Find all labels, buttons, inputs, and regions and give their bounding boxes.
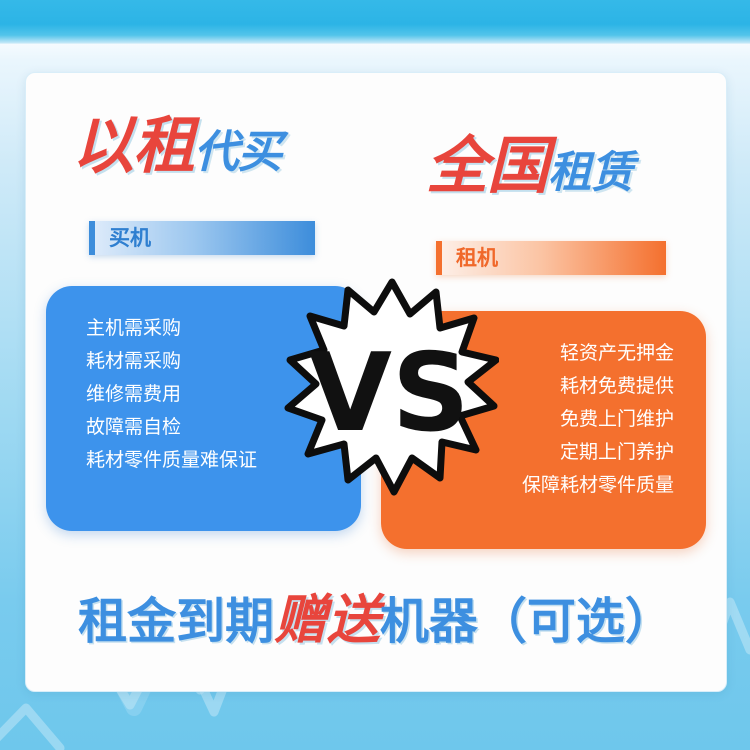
headline-right-red: 全国 bbox=[426, 129, 548, 202]
headline-left: 以租代买 bbox=[72, 95, 281, 185]
headline-left-blue: 代买 bbox=[194, 126, 281, 178]
tab-buy-machine[interactable]: 买机 bbox=[89, 221, 315, 255]
footer-tagline: 租金到期赠送机器（可选） bbox=[26, 578, 726, 654]
vs-label: VS bbox=[308, 331, 469, 456]
vs-burst-badge: VS bbox=[284, 278, 499, 508]
footer-lead: 租金到期 bbox=[78, 593, 274, 650]
top-banner-band bbox=[0, 0, 750, 44]
headline-left-red: 以租 bbox=[72, 109, 194, 182]
tab-rent-machine[interactable]: 租机 bbox=[436, 241, 666, 275]
headline-right-blue: 租赁 bbox=[548, 148, 633, 198]
headline-row: 以租代买 全国租赁 bbox=[26, 73, 726, 203]
poster-canvas: 以租代买 全国租赁 买机 租机 主机需采购 耗材需采购 维修需费用 故障需自检 … bbox=[0, 0, 750, 750]
headline-right: 全国租赁 bbox=[426, 115, 633, 205]
footer-highlight: 赠送 bbox=[274, 590, 380, 651]
main-content-card: 以租代买 全国租赁 买机 租机 主机需采购 耗材需采购 维修需费用 故障需自检 … bbox=[25, 72, 727, 692]
footer-tail: 机器（可选） bbox=[380, 593, 674, 650]
